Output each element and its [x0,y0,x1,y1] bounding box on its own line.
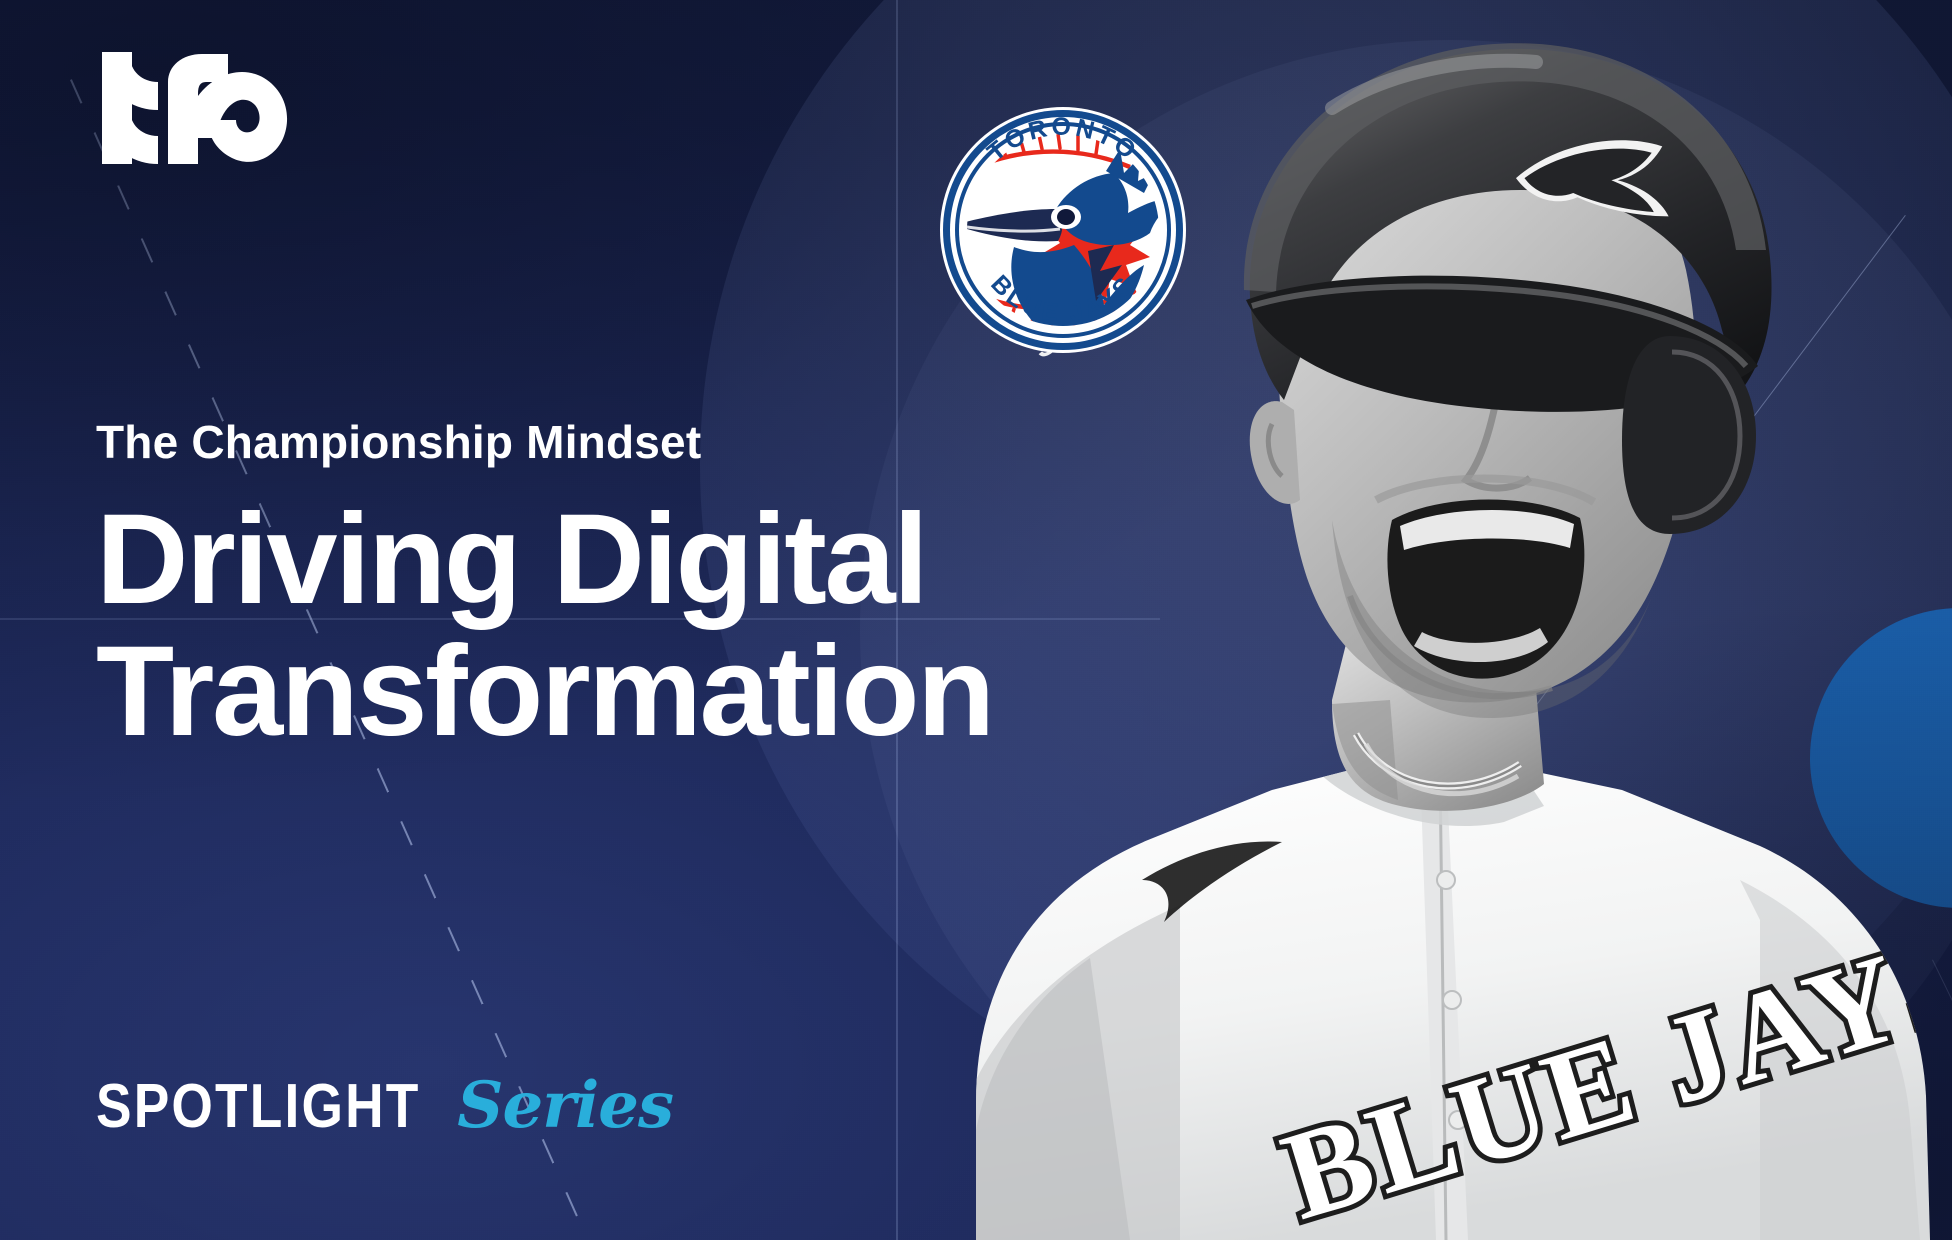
series-lockup: SPOTLIGHT Series [96,1074,673,1138]
series-secondary-text: Series [457,1074,673,1138]
toronto-blue-jays-logo: TORONTO BLUE JAYS [938,105,1188,355]
spotlight-series-banner: BLUE JAYS [0,0,1952,1240]
headline-line-2: Transformation [96,626,1096,758]
eyebrow-text: The Championship Mindset [96,418,1096,466]
page-title: Driving Digital Transformation [96,494,1096,758]
headline-line-1: Driving Digital [96,494,1096,626]
headline-block: The Championship Mindset Driving Digital… [96,418,1096,758]
series-primary-text: SPOTLIGHT [96,1076,420,1138]
tro-logo[interactable] [68,52,296,164]
